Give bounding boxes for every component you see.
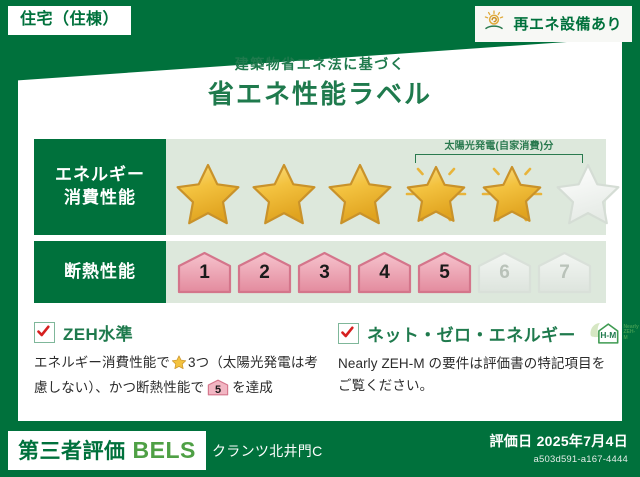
energy-star-filled — [248, 157, 320, 229]
check-icon — [341, 326, 354, 339]
energy-star-filled-solar — [476, 157, 548, 229]
inline-star-icon — [171, 358, 187, 373]
energy-star-filled — [324, 157, 396, 229]
insulation-level-chip-filled: 5 — [416, 250, 473, 295]
energy-star-filled-solar — [400, 157, 472, 229]
insulation-level-number: 7 — [536, 263, 593, 282]
zeh-checkbox[interactable] — [34, 322, 55, 343]
renewable-equipment-badge: 再エネ設備あり — [475, 6, 632, 42]
zeh-note: ZEH水準 エネルギー消費性能で3つ（太陽光発電は考慮しない）、かつ断熱性能で5… — [34, 320, 322, 399]
net-zero-energy-note: ネット・ゼロ・エネルギー H-M Nearly ZEH-M Nearly ZEH… — [322, 320, 610, 399]
zeh-body-star-count: 3つ（太陽光発電 — [188, 355, 291, 370]
insulation-level-chip-filled: 1 — [176, 250, 233, 295]
zeh-body-part1: エネルギー消費性能で — [34, 355, 170, 370]
bels-badge-en: BELS — [133, 437, 196, 464]
zeh-m-logo-text: H-M — [600, 330, 616, 340]
insulation-level-chip-filled: 2 — [236, 250, 293, 295]
footer-bar: 第三者評価 BELS クランツ北井門C 評価日 2025年7月4日 a503d5… — [0, 425, 640, 477]
evaluation-date-value: 2025年7月4日 — [537, 433, 628, 449]
solar-sun-icon — [483, 10, 507, 37]
building-name: クランツ北井門C — [212, 441, 323, 461]
energy-star-empty — [552, 157, 624, 229]
insulation-levels-area: 1 2 3 4 — [166, 241, 606, 303]
energy-performance-row: エネルギー 消費性能 太陽光発電(自家消費)分 — [34, 139, 606, 235]
renewable-badge-label: 再エネ設備あり — [513, 13, 622, 34]
energy-performance-label-box: エネルギー 消費性能 — [34, 139, 166, 235]
insulation-level-number: 1 — [176, 263, 233, 282]
inline-insulation-badge: 5 — [206, 379, 230, 396]
notes-section: ZEH水準 エネルギー消費性能で3つ（太陽光発電は考慮しない）、かつ断熱性能で5… — [34, 320, 610, 399]
evaluation-date-line: 評価日 2025年7月4日 — [489, 431, 628, 451]
zeh-m-caption-line2: ZEH-M — [623, 330, 639, 341]
dwelling-type-tag: 住宅（住棟） — [8, 6, 131, 35]
net-zero-checkbox[interactable] — [338, 323, 359, 344]
inline-insulation-badge-number: 5 — [206, 382, 230, 400]
insulation-level-number: 5 — [416, 263, 473, 282]
insulation-level-number: 4 — [356, 263, 413, 282]
energy-performance-label: 住宅（住棟） 再エネ設備あり 建築物省エネ法に基づく 省エネ性能ラベル — [0, 0, 640, 477]
check-icon — [37, 325, 50, 338]
title-subtitle: 建築物省エネ法に基づく — [0, 56, 640, 73]
zeh-note-header: ZEH水準 — [34, 320, 322, 345]
evaluation-date-label: 評価日 — [489, 433, 532, 449]
zeh-m-logo: H-M Nearly ZEH-M — [588, 320, 639, 346]
zeh-body-part3: を達成 — [232, 380, 273, 395]
insulation-level-chip-empty: 7 — [536, 250, 593, 295]
evaluation-id: a503d591-a167-4444 — [489, 454, 628, 465]
energy-label-line1: エネルギー — [55, 164, 145, 187]
insulation-level-number: 3 — [296, 263, 353, 282]
insulation-level-chip-filled: 4 — [356, 250, 413, 295]
insulation-level-chip-filled: 3 — [296, 250, 353, 295]
label-title: 建築物省エネ法に基づく 省エネ性能ラベル — [0, 56, 640, 110]
insulation-level-chip-empty: 6 — [476, 250, 533, 295]
solar-annotation-label: 太陽光発電(自家消費)分 — [415, 141, 583, 152]
insulation-label-line1: 断熱性能 — [64, 261, 136, 284]
insulation-level-number: 2 — [236, 263, 293, 282]
insulation-level-number: 6 — [476, 263, 533, 282]
net-zero-note-body: Nearly ZEH-M の要件は評価書の特記項目をご覧ください。 — [338, 353, 610, 397]
energy-stars-area: 太陽光発電(自家消費)分 — [166, 139, 628, 235]
bels-badge-jp: 第三者評価 — [18, 435, 126, 465]
metric-rows: エネルギー 消費性能 太陽光発電(自家消費)分 — [34, 139, 606, 309]
evaluation-info: 評価日 2025年7月4日 a503d591-a167-4444 — [489, 431, 628, 465]
insulation-performance-row: 断熱性能 — [34, 241, 606, 303]
insulation-performance-label-box: 断熱性能 — [34, 241, 166, 303]
net-zero-note-header: ネット・ゼロ・エネルギー H-M Nearly ZEH-M — [338, 320, 610, 346]
title-main: 省エネ性能ラベル — [0, 79, 640, 110]
energy-label-line2: 消費性能 — [64, 187, 136, 210]
zeh-note-body: エネルギー消費性能で3つ（太陽光発電は考慮しない）、かつ断熱性能で5を達成 — [34, 352, 322, 399]
energy-star-filled — [172, 157, 244, 229]
net-zero-note-title: ネット・ゼロ・エネルギー — [367, 321, 576, 346]
bels-badge: 第三者評価 BELS — [8, 431, 206, 470]
zeh-note-title: ZEH水準 — [63, 320, 133, 345]
